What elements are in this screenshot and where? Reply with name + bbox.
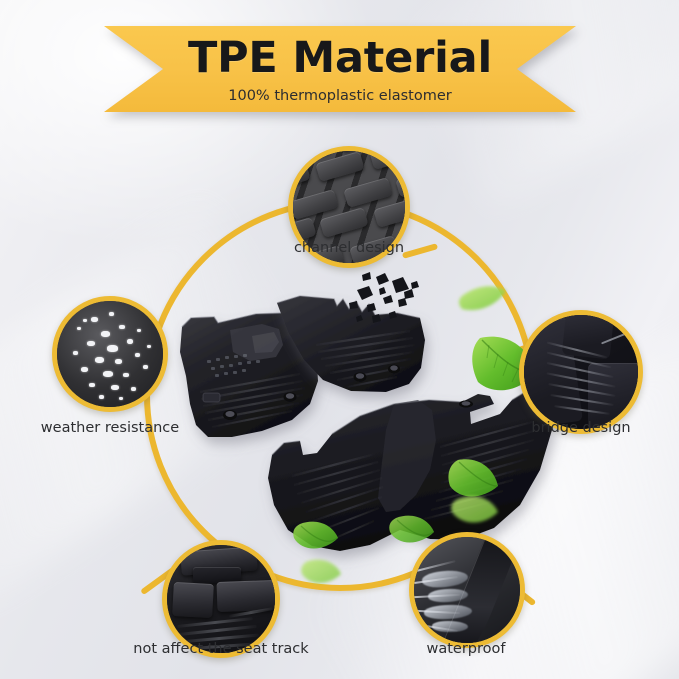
callout-label-channel-design: channel design [238, 240, 460, 256]
snow-fleck-group [57, 301, 163, 407]
seat-track-icon [167, 545, 275, 653]
callout-bubble-bridge-design[interactable] [519, 310, 643, 434]
infographic-canvas: TPE Material 100% thermoplastic elastome… [0, 0, 679, 679]
title-banner: TPE Material 100% thermoplastic elastome… [104, 26, 576, 112]
callout-label-weather-resistance: weather resistance [4, 420, 216, 436]
callout-label-bridge-design: bridge design [481, 420, 679, 436]
page-subtitle: 100% thermoplastic elastomer [228, 89, 451, 104]
banner-ribbon: TPE Material 100% thermoplastic elastome… [104, 26, 576, 112]
callout-bubble-weather-resistance[interactable] [52, 296, 168, 412]
water-drop-icon [414, 537, 520, 643]
mat-riser-left [172, 582, 214, 618]
footwell-icon [524, 315, 638, 429]
page-title: TPE Material [188, 37, 492, 80]
callout-bubble-waterproof[interactable] [409, 532, 525, 648]
snow-fleck-icon [57, 301, 163, 407]
callout-label-seat-track: not affect the seat track [131, 641, 311, 657]
callout-label-waterproof: waterproof [401, 641, 531, 657]
